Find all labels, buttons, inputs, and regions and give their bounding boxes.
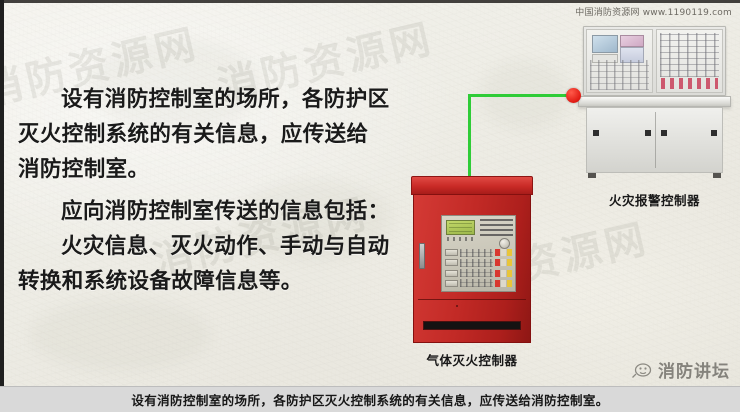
cabinet-status-led-row bbox=[447, 237, 474, 241]
cabinet-keypad-row bbox=[445, 269, 512, 278]
console-caption: 火灾报警控制器 bbox=[578, 190, 731, 209]
console-led-array-left bbox=[590, 60, 649, 90]
cabinet-key-slot bbox=[445, 280, 458, 287]
cabinet-vent-slot bbox=[423, 321, 521, 330]
console-panel-row bbox=[583, 26, 726, 96]
background-blotch bbox=[30, 300, 210, 370]
cabinet-screw-dot bbox=[456, 305, 458, 307]
cabinet-panel-label-block bbox=[480, 219, 513, 236]
cabinet-led-yellow bbox=[507, 249, 512, 256]
console-door-handle bbox=[711, 130, 717, 136]
caption-bar: 设有消防控制室的场所，各防护区灭火控制系统的有关信息，应传送给消防控制室。 bbox=[0, 386, 740, 412]
site-watermark: 中国消防资源网www.1190119.com bbox=[575, 5, 732, 18]
caption-bar-text: 设有消防控制室的场所，各防护区灭火控制系统的有关信息，应传送给消防控制室。 bbox=[131, 390, 608, 409]
slide-body-text: 设有消防控制室的场所，各防护区 灭火控制系统的有关信息，应传送给 消防控制室。 … bbox=[18, 82, 418, 299]
cabinet-control-panel bbox=[441, 215, 516, 292]
cabinet-lcd-screen bbox=[446, 220, 475, 235]
console-leg bbox=[588, 173, 596, 178]
connection-node-marker bbox=[566, 88, 581, 103]
cabinet-led-yellow bbox=[507, 270, 512, 277]
console-desktop-surface bbox=[578, 96, 731, 107]
console-led-grid bbox=[660, 33, 719, 77]
cabinet-led-white bbox=[501, 280, 506, 287]
console-leg-row bbox=[586, 173, 723, 178]
cabinet-caption: 气体灭火控制器 bbox=[396, 350, 548, 369]
paragraph1-line1: 设有消防控制室的场所，各防护区 bbox=[18, 82, 418, 117]
cabinet-keypad-row bbox=[445, 258, 512, 267]
cabinet-led-yellow bbox=[507, 280, 512, 287]
frame-left-edge bbox=[0, 0, 4, 412]
console-leg bbox=[713, 173, 721, 178]
console-right-panel bbox=[656, 29, 723, 93]
console-door-handle bbox=[645, 130, 651, 136]
cabinet-lcd-text-lines bbox=[449, 223, 472, 232]
paragraph2-line3: 转换和系统设备故障信息等。 bbox=[18, 264, 418, 299]
cabinet-keypad-row bbox=[445, 279, 512, 288]
console-cabinet-body bbox=[586, 107, 723, 173]
console-alarm-led-row bbox=[661, 78, 718, 89]
cabinet-door-latch bbox=[419, 243, 425, 269]
paragraph2-line2: 火灾信息、灭火动作、手动与自动 bbox=[18, 229, 418, 264]
fire-alarm-console-image bbox=[578, 26, 731, 181]
channel-watermark-label: 消防讲坛 bbox=[658, 357, 730, 382]
console-left-panel bbox=[586, 29, 653, 93]
console-indicator-screen bbox=[620, 35, 644, 47]
cabinet-led-yellow bbox=[507, 259, 512, 266]
console-door-seam bbox=[655, 112, 656, 168]
connection-line-horizontal bbox=[468, 94, 576, 97]
cabinet-led-red bbox=[495, 259, 500, 266]
cabinet-led-white bbox=[501, 270, 506, 277]
cabinet-body bbox=[413, 194, 531, 343]
console-display-screen bbox=[592, 35, 618, 53]
channel-logo-icon bbox=[631, 361, 653, 379]
slide-canvas: 消防资源网 消防资源网 消防资源网 消防资源网 中国消防资源网www.11901… bbox=[0, 0, 740, 412]
cabinet-led-white bbox=[501, 259, 506, 266]
cabinet-button-grid bbox=[460, 269, 493, 277]
paragraph1-line2: 灭火控制系统的有关信息，应传送给 bbox=[18, 117, 418, 152]
cabinet-led-white bbox=[501, 249, 506, 256]
paragraph1-line3: 消防控制室。 bbox=[18, 152, 418, 187]
cabinet-door-seam bbox=[418, 299, 526, 300]
cabinet-led-red bbox=[495, 280, 500, 287]
site-watermark-cn: 中国消防资源网 bbox=[575, 8, 639, 18]
channel-watermark: 消防讲坛 bbox=[631, 357, 730, 382]
cabinet-led-group bbox=[495, 259, 512, 266]
cabinet-keypad-area bbox=[445, 248, 512, 288]
frame-top-edge bbox=[0, 0, 740, 3]
cabinet-top-cap bbox=[411, 176, 533, 195]
connection-line-vertical bbox=[468, 94, 471, 178]
cabinet-button-grid bbox=[460, 279, 493, 287]
cabinet-button-grid bbox=[460, 249, 493, 257]
paragraph2-line1: 应向消防控制室传送的信息包括： bbox=[18, 194, 418, 229]
cabinet-key-slot bbox=[445, 270, 458, 277]
console-door-handle bbox=[661, 130, 667, 136]
cabinet-key-slot bbox=[445, 249, 458, 256]
cabinet-key-slot bbox=[445, 259, 458, 266]
cabinet-led-red bbox=[495, 249, 500, 256]
console-door-handle bbox=[593, 130, 599, 136]
cabinet-button-grid bbox=[460, 259, 493, 267]
gas-extinguishing-cabinet-image bbox=[411, 176, 533, 343]
cabinet-led-group bbox=[495, 270, 512, 277]
cabinet-led-red bbox=[495, 270, 500, 277]
cabinet-led-group bbox=[495, 249, 512, 256]
site-watermark-url: www.1190119.com bbox=[643, 8, 732, 18]
cabinet-led-group bbox=[495, 280, 512, 287]
cabinet-keypad-row bbox=[445, 248, 512, 257]
paragraph-spacer bbox=[18, 187, 418, 194]
